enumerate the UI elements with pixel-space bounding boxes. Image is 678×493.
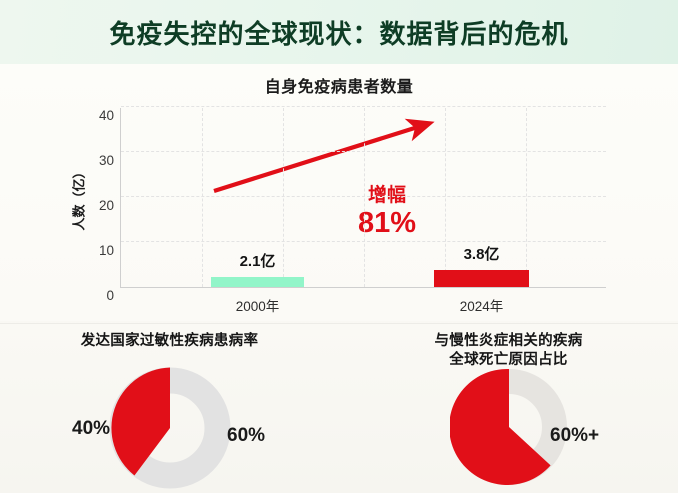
bar-chart-plot-wrapper: 人数（亿） 增幅 81% 0102030402.1亿2000年3.8亿2024年 xyxy=(86,108,606,288)
donut-panel-allergy: 发达国家过敏性疾病患病率 40% 60% xyxy=(0,324,339,493)
donut-right-title-line2: 全球死亡原因占比 xyxy=(449,352,567,368)
donut-left-graphic xyxy=(109,367,231,489)
slide-header: 免疫失控的全球现状：数据背后的危机 xyxy=(0,0,678,64)
donut-right-title-line1: 与慢性炎症相关的疾病 xyxy=(435,333,583,349)
y-axis-label: 人数（亿） xyxy=(69,165,88,230)
gridline-horizontal xyxy=(121,106,606,107)
growth-annotation-value: 81% xyxy=(327,208,447,238)
page-title: 免疫失控的全球现状：数据背后的危机 xyxy=(109,14,568,51)
donut-left-primary-value: 40% xyxy=(72,418,110,440)
gridline-vertical xyxy=(202,108,203,287)
bar-value-label: 3.8亿 xyxy=(464,243,500,264)
gridline-vertical xyxy=(526,108,527,287)
donut-charts-section: 发达国家过敏性疾病患病率 40% 60% 与慢性炎症相关的疾病 全球死亡原因占比 xyxy=(0,324,678,493)
donut-left-secondary-value: 60% xyxy=(227,425,265,447)
gridline-vertical xyxy=(283,108,284,287)
donut-panel-inflammation: 与慢性炎症相关的疾病 全球死亡原因占比 60%+ 40% xyxy=(339,324,678,493)
donut-right-title: 与慢性炎症相关的疾病 全球死亡原因占比 xyxy=(339,332,678,369)
bar-value-label: 2.1亿 xyxy=(240,250,276,271)
bar-chart-section: 自身免疫病患者数量 人数（亿） 增幅 81% 0102030402 xyxy=(0,64,678,321)
gridline-vertical xyxy=(364,108,365,287)
bar-chart-plot-area: 增幅 81% 0102030402.1亿2000年3.8亿2024年 xyxy=(120,108,606,288)
gridline-vertical xyxy=(445,108,446,287)
slide-root: 免疫失控的全球现状：数据背后的危机 自身免疫病患者数量 人数（亿） 增幅 xyxy=(0,0,678,493)
bar-2000年: 2.1亿2000年 xyxy=(211,277,304,287)
growth-annotation: 增幅 81% xyxy=(327,186,447,238)
x-axis-tick-label: 2024年 xyxy=(460,295,504,315)
donut-right-primary-value: 60%+ xyxy=(550,425,599,447)
bar-chart-title: 自身免疫病患者数量 xyxy=(0,73,678,97)
x-axis-tick-label: 2000年 xyxy=(236,295,280,315)
bar-2024年: 3.8亿2024年 xyxy=(434,270,529,287)
donut-left-svg xyxy=(109,367,231,489)
donut-left-title: 发达国家过敏性疾病患病率 xyxy=(0,332,339,351)
